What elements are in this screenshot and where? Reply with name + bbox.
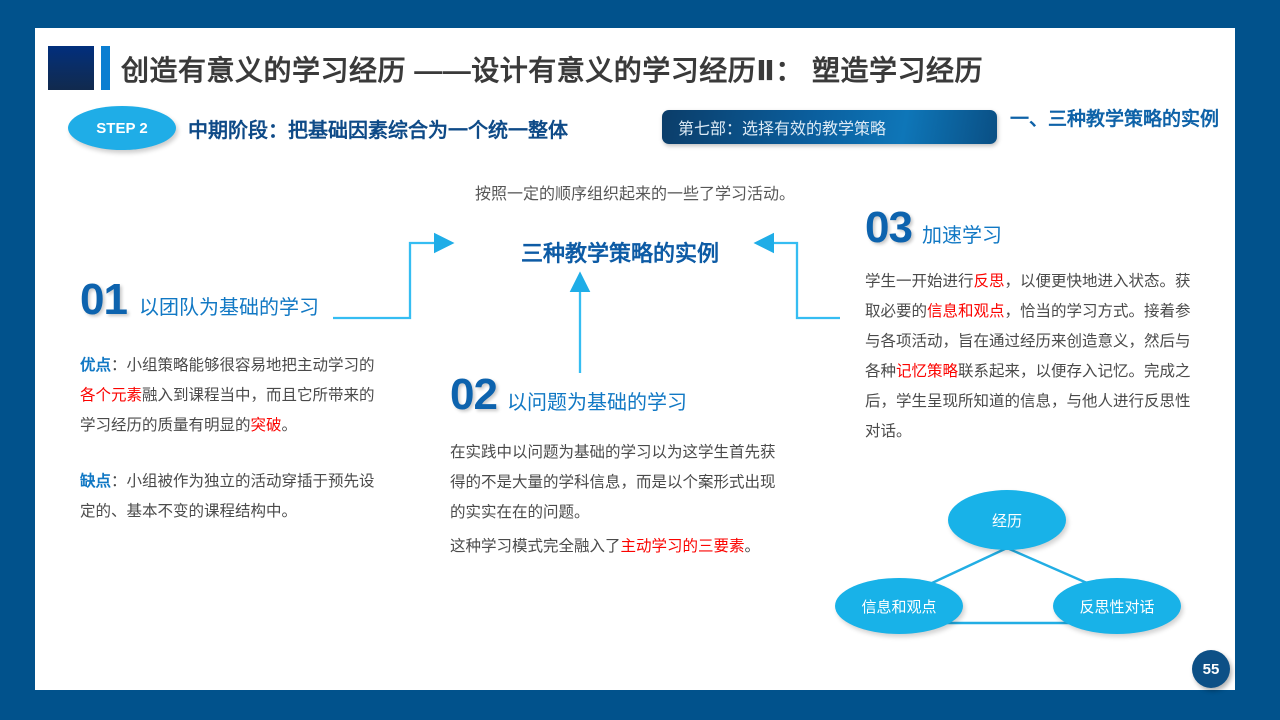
strategy-02-paragraph-2: 这种学习模式完全融入了主动学习的三要素。	[450, 532, 780, 562]
strategy-01-disadvantage: 缺点：小组被作为独立的活动穿插于预先设定的、基本不变的课程结构中。	[80, 467, 380, 527]
strategy-01-number: 01	[80, 278, 127, 322]
paragraph-separator: ：	[111, 357, 127, 374]
header-accent-bar	[101, 46, 110, 90]
triad-node-experience: 经历	[948, 490, 1066, 550]
highlighted-phrase: 记忆策略	[896, 363, 958, 380]
page-number-badge: 55	[1192, 650, 1230, 688]
strategy-01-header: 01 以团队为基础的学习	[80, 278, 380, 325]
slide-card: 创造有意义的学习经历 ——设计有意义的学习经历Ⅱ： 塑造学习经历 STEP 2 …	[35, 28, 1235, 690]
text-run: 小组策略能够很容易地把主动学习的	[127, 357, 375, 374]
text-run: 。	[745, 538, 761, 555]
strategy-03-heading: 加速学习	[922, 219, 1002, 253]
text-run: 。	[282, 417, 298, 434]
step-description: 中期阶段：把基础因素综合为一个统一整体	[188, 106, 568, 150]
strategy-card-01: 01 以团队为基础的学习 优点：小组策略能够很容易地把主动学习的各个元素融入到课…	[80, 278, 380, 527]
paragraph-label: 优点	[80, 357, 111, 374]
triad-node-dialogue: 反思性对话	[1053, 578, 1181, 634]
text-run: 在实践中以问题为基础的学习以为这学生首先获得的不是大量的学科信息，而是以个案形式…	[450, 444, 776, 521]
strategy-card-03: 03 加速学习 学生一开始进行反思，以便更快地进入状态。获取必要的信息和观点，恰…	[865, 206, 1205, 447]
page-title: 创造有意义的学习经历 ——设计有意义的学习经历Ⅱ： 塑造学习经历	[121, 46, 983, 92]
highlighted-phrase: 主动学习的三要素	[621, 538, 745, 555]
highlighted-phrase: 反思	[974, 273, 1005, 290]
chapter-badge: 第七部：选择有效的教学策略	[662, 110, 997, 144]
triad-node-information: 信息和观点	[835, 578, 963, 634]
highlighted-phrase: 突破	[251, 417, 282, 434]
strategy-03-paragraph-1: 学生一开始进行反思，以便更快地进入状态。获取必要的信息和观点，恰当的学习方式。接…	[865, 267, 1205, 447]
strategy-01-advantage: 优点：小组策略能够很容易地把主动学习的各个元素融入到课程当中，而且它所带来的学习…	[80, 351, 380, 441]
slide-canvas: 创造有意义的学习经历 ——设计有意义的学习经历Ⅱ： 塑造学习经历 STEP 2 …	[0, 0, 1280, 720]
text-run: 学生一开始进行	[865, 273, 974, 290]
paragraph-separator: ：	[111, 473, 127, 490]
text-run: 这种学习模式完全融入了	[450, 538, 621, 555]
highlighted-phrase: 各个元素	[80, 387, 142, 404]
step-badge: STEP 2	[68, 106, 176, 150]
accelerated-learning-triad: 经历 信息和观点 反思性对话	[825, 490, 1195, 660]
strategy-02-header: 02 以问题为基础的学习	[450, 373, 780, 420]
paragraph-label: 缺点	[80, 473, 111, 490]
strategy-02-paragraph-1: 在实践中以问题为基础的学习以为这学生首先获得的不是大量的学科信息，而是以个案形式…	[450, 438, 780, 528]
highlighted-phrase: 信息和观点	[927, 303, 1005, 320]
strategy-card-02: 02 以问题为基础的学习 在实践中以问题为基础的学习以为这学生首先获得的不是大量…	[450, 373, 780, 562]
strategy-03-header: 03 加速学习	[865, 206, 1205, 253]
section-title: 一、三种教学策略的实例	[1010, 107, 1225, 132]
header-square-decoration	[48, 46, 94, 90]
strategy-01-heading: 以团队为基础的学习	[139, 291, 380, 325]
intro-text: 按照一定的顺序组织起来的一些了学习活动。	[375, 180, 895, 204]
strategy-03-number: 03	[865, 206, 912, 250]
hub-title: 三种教学策略的实例	[455, 236, 785, 268]
strategy-02-number: 02	[450, 373, 497, 417]
strategy-02-heading: 以问题为基础的学习	[507, 386, 687, 420]
